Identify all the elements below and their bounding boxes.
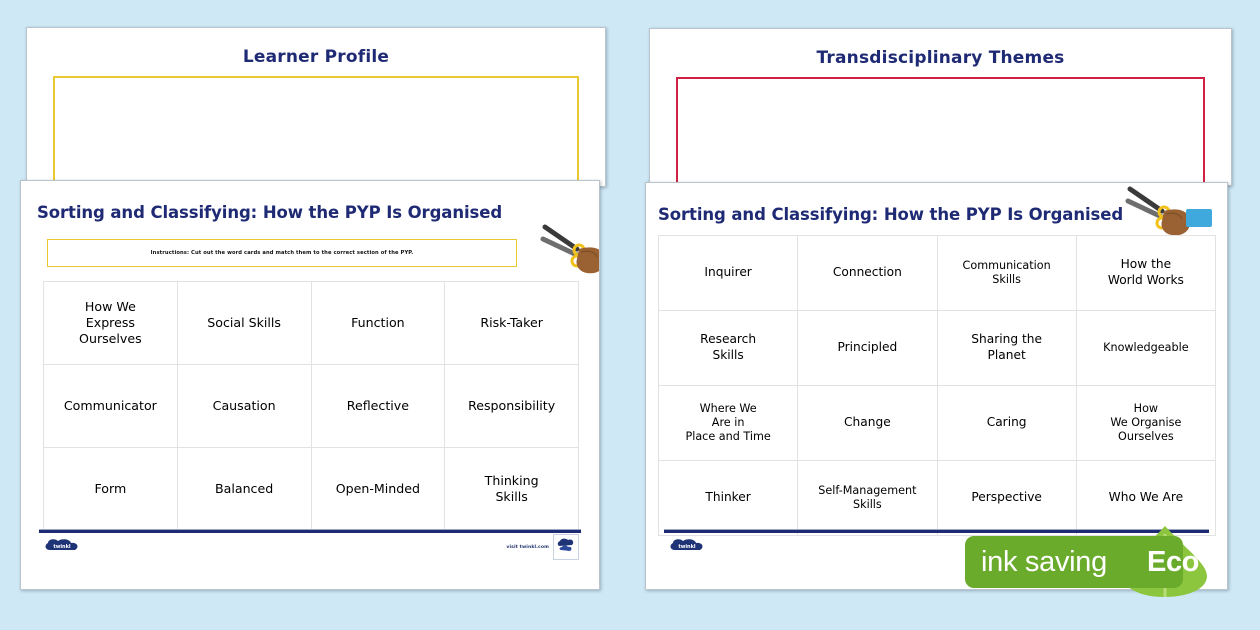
word-card[interactable]: How theWorld Works (1076, 236, 1215, 311)
page-title: Sorting and Classifying: How the PYP Is … (646, 183, 1227, 224)
visit-twinkl-link[interactable]: visit twinkl.com (506, 534, 579, 560)
word-card[interactable]: Responsibility (445, 365, 579, 448)
word-card[interactable]: Risk-Taker (445, 282, 579, 365)
page-title: Sorting and Classifying: How the PYP Is … (21, 181, 599, 222)
document-stack-learner-profile[interactable]: Learner Profile Sorting and Classifying:… (20, 0, 620, 630)
svg-text:twinkl: twinkl (53, 544, 71, 550)
page-title: Transdisciplinary Themes (650, 29, 1231, 68)
svg-text:twinkl: twinkl (678, 544, 696, 550)
word-card-table[interactable]: How WeExpressOurselves Social Skills Fun… (43, 281, 579, 531)
ink-saving-label: ink saving (965, 546, 1107, 579)
twinkl-cloud-logo: twinkl (43, 538, 81, 553)
scissors-hand-icon (537, 219, 600, 281)
word-card[interactable]: Sharing thePlanet (937, 311, 1076, 386)
learner-profile-heading-page[interactable]: Learner Profile (26, 27, 606, 187)
learner-profile-word-card-page[interactable]: Sorting and Classifying: How the PYP Is … (20, 180, 600, 590)
category-frame-yellow (53, 76, 579, 187)
word-card[interactable]: Function (311, 282, 445, 365)
word-card[interactable]: Social Skills (177, 282, 311, 365)
word-card[interactable]: Connection (798, 236, 937, 311)
word-card[interactable]: Self-ManagementSkills (798, 461, 937, 536)
word-card-table[interactable]: Inquirer Connection CommunicationSkills … (658, 235, 1216, 536)
twinkl-badge-logo (553, 534, 579, 560)
visit-twinkl-text: visit twinkl.com (506, 545, 549, 550)
word-card[interactable]: Inquirer (659, 236, 798, 311)
word-card[interactable]: Thinker (659, 461, 798, 536)
word-card[interactable]: Caring (937, 386, 1076, 461)
table-row[interactable]: ResearchSkills Principled Sharing thePla… (659, 311, 1216, 386)
word-card[interactable]: CommunicationSkills (937, 236, 1076, 311)
word-card[interactable]: Change (798, 386, 937, 461)
instructions-box: Instructions: Cut out the word cards and… (47, 239, 517, 267)
transdisciplinary-themes-heading-page[interactable]: Transdisciplinary Themes (649, 28, 1232, 186)
word-card[interactable]: ThinkingSkills (445, 448, 579, 531)
word-card[interactable]: Balanced (177, 448, 311, 531)
table-row[interactable]: Communicator Causation Reflective Respon… (44, 365, 579, 448)
table-row[interactable]: Inquirer Connection CommunicationSkills … (659, 236, 1216, 311)
word-card[interactable]: Causation (177, 365, 311, 448)
eco-label: Eco (1125, 536, 1221, 588)
word-card[interactable]: How WeExpressOurselves (44, 282, 178, 365)
word-card[interactable]: Where WeAre inPlace and Time (659, 386, 798, 461)
word-card[interactable]: HowWe OrganiseOurselves (1076, 386, 1215, 461)
page-footer: twinkl visit twinkl.com (39, 529, 581, 561)
word-card[interactable]: Communicator (44, 365, 178, 448)
table-row[interactable]: How WeExpressOurselves Social Skills Fun… (44, 282, 579, 365)
page-title: Learner Profile (27, 28, 605, 67)
word-card[interactable]: Open-Minded (311, 448, 445, 531)
twinkl-cloud-logo: twinkl (668, 538, 706, 553)
instructions-text: Instructions: Cut out the word cards and… (151, 250, 414, 256)
table-row[interactable]: Where WeAre inPlace and Time Change Cari… (659, 386, 1216, 461)
word-card[interactable]: ResearchSkills (659, 311, 798, 386)
category-frame-red (676, 77, 1205, 186)
table-row[interactable]: Form Balanced Open-Minded ThinkingSkills (44, 448, 579, 531)
ink-saving-eco-badge: ink saving Eco (965, 524, 1215, 598)
word-card[interactable]: Reflective (311, 365, 445, 448)
word-card[interactable]: Knowledgeable (1076, 311, 1215, 386)
word-card[interactable]: Form (44, 448, 178, 531)
word-card[interactable]: Principled (798, 311, 937, 386)
